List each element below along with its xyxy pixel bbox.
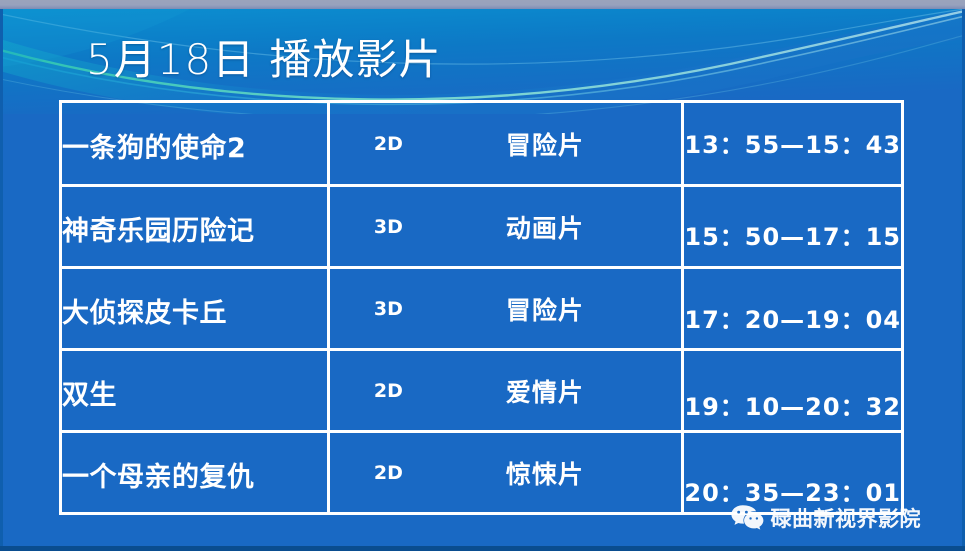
cell-showtime: 20：35—23：01: [683, 432, 903, 514]
cell-showtime: 17：20—19：04: [683, 268, 903, 350]
movie-genre: 冒险片: [506, 291, 584, 327]
cell-format-genre: 3D 动画片: [328, 186, 682, 268]
movie-format: 2D: [374, 462, 506, 484]
cell-format-genre: 2D 冒险片: [328, 102, 682, 186]
wechat-icon: [730, 503, 764, 533]
cell-movie-title: 一条狗的使命2: [61, 102, 329, 186]
cell-movie-title: 双生: [61, 350, 329, 432]
cell-movie-title: 一个母亲的复仇: [61, 432, 329, 514]
top-frame-strip: [0, 0, 965, 9]
cell-movie-title: 神奇乐园历险记: [61, 186, 329, 268]
movie-showtime: 19：10—20：32: [684, 387, 901, 422]
movie-format: 3D: [374, 216, 506, 238]
cell-format-genre: 2D 爱情片: [328, 350, 682, 432]
cell-showtime: 15：50—17：15: [683, 186, 903, 268]
table-row: 大侦探皮卡丘 3D 冒险片 17：20—19：04: [61, 268, 903, 350]
movie-genre: 冒险片: [506, 126, 584, 162]
table-row: 双生 2D 爱情片 19：10—20：32: [61, 350, 903, 432]
cell-format-genre: 2D 惊悚片: [328, 432, 682, 514]
movie-showtime: 13：55—15：43: [684, 125, 901, 160]
table-row: 一个母亲的复仇 2D 惊悚片 20：35—23：01: [61, 432, 903, 514]
movie-format: 3D: [374, 298, 506, 320]
cell-showtime: 13：55—15：43: [683, 102, 903, 186]
watermark-text: 碌曲新视界影院: [771, 503, 922, 533]
movie-showtime: 17：20—19：04: [684, 300, 901, 335]
page-title: 5月18日 播放影片: [86, 34, 442, 86]
movie-schedule-table: 一条狗的使命2 2D 冒险片 13：55—15：43 神奇乐园历险记: [59, 100, 904, 515]
movie-title: 双生: [62, 381, 327, 411]
slide-canvas: 5月18日 播放影片 一条狗的使命2 2D 冒险片 13：55—15：43: [0, 0, 965, 551]
movie-genre: 动画片: [506, 209, 584, 245]
movie-title: 神奇乐园历险记: [62, 217, 327, 247]
movie-format: 2D: [374, 133, 506, 155]
cell-format-genre: 3D 冒险片: [328, 268, 682, 350]
cell-showtime: 19：10—20：32: [683, 350, 903, 432]
movie-genre: 爱情片: [506, 373, 584, 409]
movie-title: 大侦探皮卡丘: [62, 299, 327, 329]
movie-format: 2D: [374, 380, 506, 402]
table-row: 神奇乐园历险记 3D 动画片 15：50—17：15: [61, 186, 903, 268]
watermark: 碌曲新视界影院: [730, 503, 922, 533]
movie-title: 一个母亲的复仇: [62, 463, 327, 493]
cell-movie-title: 大侦探皮卡丘: [61, 268, 329, 350]
movie-title: 一条狗的使命2: [62, 134, 327, 164]
movie-showtime: 15：50—17：15: [684, 217, 901, 252]
table-row: 一条狗的使命2 2D 冒险片 13：55—15：43: [61, 102, 903, 186]
bottom-frame-edge: [0, 546, 965, 551]
left-frame-edge: [0, 9, 3, 551]
movie-genre: 惊悚片: [506, 455, 584, 491]
